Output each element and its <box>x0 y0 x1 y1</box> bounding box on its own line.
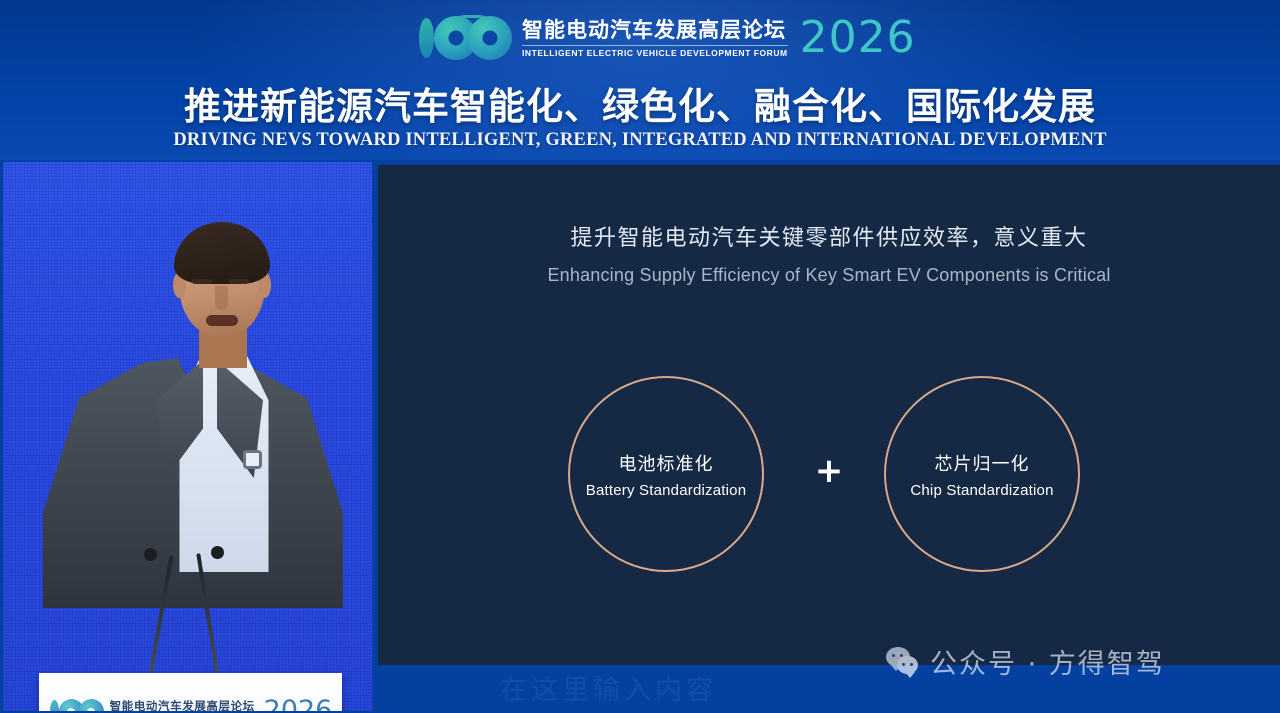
speaker-eye-left <box>192 279 212 284</box>
event-header-banner: 智能电动汽车发展高层论坛 INTELLIGENT ELECTRIC VEHICL… <box>0 0 1280 160</box>
page-title-en: DRIVING NEVS TOWARD INTELLIGENT, GREEN, … <box>0 130 1280 151</box>
slide-circle-battery: 电池标准化 Battery Standardization <box>568 376 764 572</box>
slide-heading-cn: 提升智能电动汽车关键零部件供应效率，意义重大 <box>378 220 1280 252</box>
screenshot-stage: 智能电动汽车发展高层论坛 INTELLIGENT ELECTRIC VEHICL… <box>0 0 1280 713</box>
speaker-hair <box>174 222 270 284</box>
slide-circle-chip: 芯片归一化 Chip Standardization <box>884 376 1080 572</box>
slide-circle-battery-label-cn: 电池标准化 <box>619 450 714 476</box>
slide-circle-chip-label-cn: 芯片归一化 <box>935 450 1030 476</box>
forum-100-logo-icon <box>416 13 514 63</box>
podium-forum-name-cn: 智能电动汽车发展高层论坛 <box>110 699 256 711</box>
plus-icon: + <box>811 453 847 489</box>
slide-heading-en: Enhancing Supply Efficiency of Key Smart… <box>378 265 1280 286</box>
slide-circle-battery-label-en: Battery Standardization <box>586 482 747 499</box>
podium-forum-year: 2026 <box>264 697 333 711</box>
slide-circle-chip-label-en: Chip Standardization <box>910 482 1053 499</box>
forum-logo-text: 智能电动汽车发展高层论坛 INTELLIGENT ELECTRIC VEHICL… <box>522 18 788 59</box>
podium-logo-icon <box>49 697 105 711</box>
wechat-watermark: 公众号 · 方得智驾 <box>886 642 1165 681</box>
speaker-figure <box>3 162 372 711</box>
forum-name-cn: 智能电动汽车发展高层论坛 <box>522 18 788 43</box>
speaker-eye-right <box>229 279 249 284</box>
podium-sign: 智能电动汽车发展高层论坛 INTELLIGENT ELECTRIC VEHICL… <box>39 673 342 711</box>
speaker-nose <box>215 286 228 310</box>
forum-logo-lockup: 智能电动汽车发展高层论坛 INTELLIGENT ELECTRIC VEHICL… <box>416 12 916 64</box>
forum-year: 2026 <box>800 15 916 61</box>
microphone-head-left <box>144 548 157 561</box>
background-ghost-text: 在这里输入内容 <box>500 668 820 706</box>
presentation-slide: 提升智能电动汽车关键零部件供应效率，意义重大 Enhancing Supply … <box>378 165 1280 665</box>
wechat-icon <box>886 647 920 676</box>
forum-name-en: INTELLIGENT ELECTRIC VEHICLE DEVELOPMENT… <box>522 48 788 59</box>
wechat-watermark-text: 公众号 · 方得智驾 <box>930 642 1165 681</box>
speaker-lapel-pin <box>243 450 262 469</box>
microphone-head-right <box>211 546 224 559</box>
forum-logo-divider <box>522 45 788 46</box>
speaker-video-panel: 智能电动汽车发展高层论坛 INTELLIGENT ELECTRIC VEHICL… <box>3 162 372 711</box>
speaker-mouth <box>206 315 238 326</box>
page-title-cn: 推进新能源汽车智能化、绿色化、融合化、国际化发展 <box>0 76 1280 130</box>
